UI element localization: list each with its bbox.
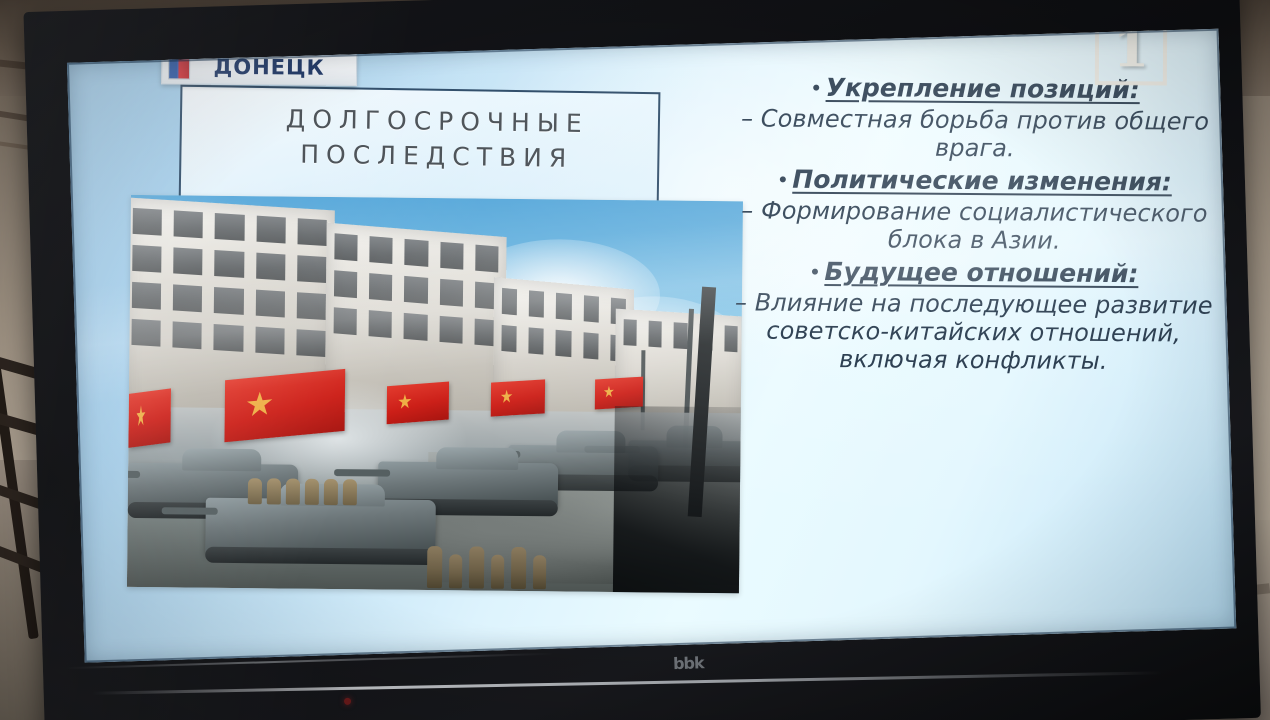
window <box>502 288 517 315</box>
soldier <box>248 478 262 504</box>
soldier <box>324 479 338 505</box>
presentation-slide: ДОЛГОСРОЧНЫЕ ПОСЛЕДСТВИЯ <box>67 29 1236 663</box>
window <box>255 290 284 318</box>
soviet-flag-icon <box>224 369 345 442</box>
window <box>674 322 687 349</box>
window <box>131 319 160 347</box>
bullet-body-1: – Совместная борьба против общего врага. <box>735 104 1215 164</box>
window <box>132 245 161 273</box>
window <box>297 292 326 320</box>
window <box>404 276 427 304</box>
tank-riders <box>248 478 357 505</box>
bullet-heading-3-label: Будущее отношений: <box>824 257 1138 288</box>
soldier <box>305 479 319 505</box>
soldier <box>533 555 546 589</box>
window <box>256 216 285 244</box>
window <box>173 284 202 312</box>
window <box>256 253 285 281</box>
bullet-icon: • <box>777 171 788 191</box>
soldier <box>469 546 484 588</box>
soldier <box>267 478 281 504</box>
window <box>174 210 203 238</box>
window <box>583 295 598 322</box>
bullet-icon: • <box>811 79 822 99</box>
soldier <box>449 554 462 588</box>
bullet-heading-2-label: Политические изменения: <box>792 165 1172 197</box>
window <box>501 325 516 352</box>
window <box>439 316 462 344</box>
window <box>214 287 243 315</box>
tank-barrel <box>162 507 218 515</box>
window <box>623 319 636 346</box>
window <box>369 273 392 301</box>
wwii-soviet-tanks-photo <box>127 195 743 593</box>
tank-tracks <box>205 547 435 565</box>
tv-bezel: bbk ДОЛГОСРОЧНЫЕ ПОСЛЕДСТВИЯ <box>23 0 1260 720</box>
screenshot-stage: bbk ДОЛГОСРОЧНЫЕ ПОСЛЕДСТВИЯ <box>0 0 1270 720</box>
window <box>215 250 244 278</box>
soldier <box>343 479 357 505</box>
window <box>556 330 571 357</box>
slide-text-column: •Укрепление позиций: – Совместная борьба… <box>722 52 1230 626</box>
window <box>529 327 544 354</box>
slide-title: ДОЛГОСРОЧНЫЕ ПОСЛЕДСТВИЯ <box>232 102 642 177</box>
window <box>370 236 393 264</box>
tank-turret <box>436 447 519 470</box>
tv-brand-logo: bbk <box>673 653 704 673</box>
window <box>556 293 571 320</box>
location-label: ДОНЕЦК <box>190 55 356 80</box>
window <box>132 282 161 310</box>
window <box>173 321 202 349</box>
window <box>439 279 462 307</box>
channel-one-logo-icon: 1 <box>1095 29 1167 86</box>
window <box>255 327 284 355</box>
soldier <box>427 546 442 588</box>
bullet-body-2: – Формирование социалистического блока в… <box>734 196 1214 256</box>
window <box>296 329 325 357</box>
marching-soldiers <box>427 546 546 589</box>
soldier <box>511 547 526 589</box>
slide-title-box: ДОЛГОСРОЧНЫЕ ПОСЛЕДСТВИЯ <box>179 85 661 207</box>
window <box>369 310 392 338</box>
soviet-flag-icon <box>491 379 545 416</box>
window <box>133 208 162 236</box>
window <box>297 255 326 283</box>
bullet-heading-1-label: Укрепление позиций: <box>826 73 1140 104</box>
window <box>334 307 357 335</box>
channel-number: 1 <box>1113 29 1149 76</box>
window <box>214 324 243 352</box>
window <box>583 332 598 359</box>
tank-barrel <box>127 471 140 479</box>
soldier <box>491 555 504 589</box>
bullet-heading-2: •Политические изменения: <box>735 164 1215 197</box>
window <box>297 218 326 246</box>
window <box>215 213 244 241</box>
soviet-flag-icon <box>128 388 171 447</box>
window <box>404 313 427 341</box>
window <box>649 321 662 348</box>
bullet-body-3: – Влияние на последующее развитие советс… <box>733 288 1214 376</box>
window <box>529 290 544 317</box>
window <box>475 245 498 273</box>
tv-screen: ДОЛГОСРОЧНЫЕ ПОСЛЕДСТВИЯ <box>67 29 1236 663</box>
soviet-flag-icon <box>387 382 449 425</box>
window <box>405 239 428 267</box>
bullet-icon: • <box>809 263 820 283</box>
window <box>173 247 202 275</box>
window <box>334 233 357 261</box>
window <box>440 242 463 270</box>
television: bbk ДОЛГОСРОЧНЫЕ ПОСЛЕДСТВИЯ <box>13 0 1267 720</box>
soviet-flag-icon <box>595 377 643 410</box>
soldier <box>286 479 300 505</box>
window <box>334 270 357 298</box>
tank-barrel <box>334 469 390 477</box>
tank <box>205 498 436 556</box>
tank-turret <box>183 448 261 471</box>
bullet-heading-3: •Будущее отношений: <box>734 257 1214 290</box>
